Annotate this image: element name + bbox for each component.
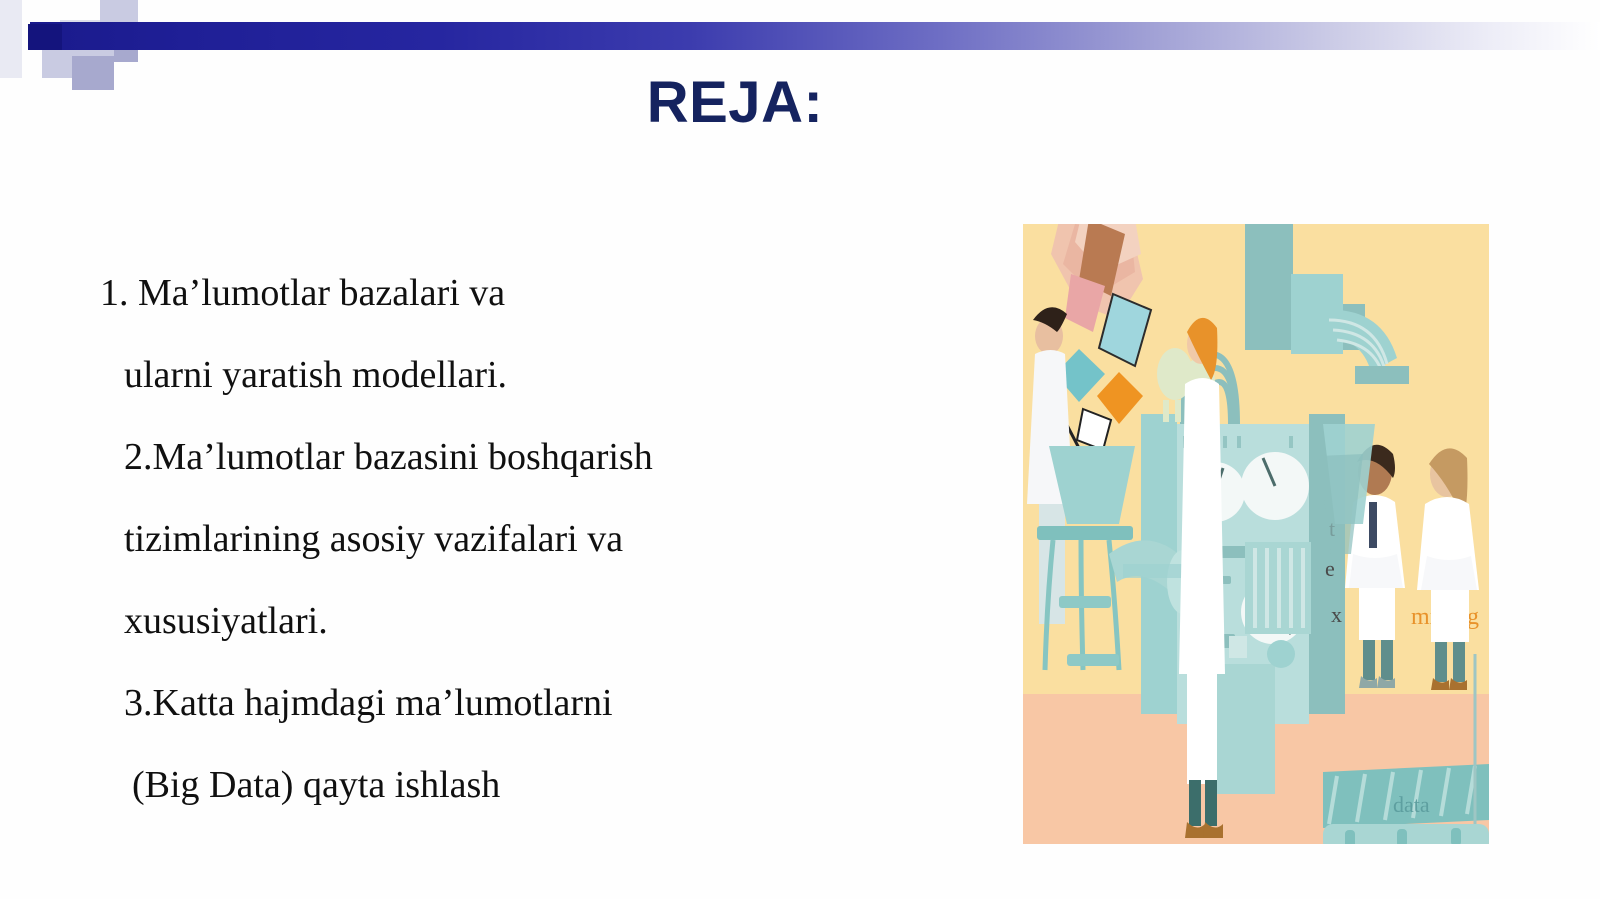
decor-strip-left [0, 0, 22, 78]
decor-block-mid-upper [100, 32, 138, 62]
body-line-7: (Big Data) qayta ishlash [132, 744, 920, 826]
slide-body-text: 1. Ma’lumotlar bazalari va ularni yarati… [100, 252, 920, 826]
header-gradient-bar [30, 22, 1600, 50]
header-decoration [0, 0, 1600, 78]
presentation-slide: REJA: 1. Ma’lumotlar bazalari va ularni … [0, 0, 1600, 899]
decor-block-pale-upper [60, 20, 100, 40]
factory-data-mining-illustration: data t e x 8 mining [1023, 224, 1489, 844]
body-line-2: ularni yaratish modellari. [124, 334, 920, 416]
decor-block-light-tall [100, 0, 138, 52]
svg-text:x: x [1331, 602, 1342, 627]
body-line-1: 1. Ma’lumotlar bazalari va [100, 252, 920, 334]
svg-text:e: e [1325, 556, 1335, 581]
body-line-6: 3.Katta hajmdagi ma’lumotlarni [124, 662, 920, 744]
body-line-5: xususiyatlari. [124, 580, 920, 662]
body-line-4: tizimlarining asosiy vazifalari va [124, 498, 920, 580]
decor-block-navy [28, 24, 62, 50]
decor-block-light-mid [72, 36, 114, 70]
body-line-3: 2.Ma’lumotlar bazasini boshqarish [124, 416, 920, 498]
belt-label-data: data [1393, 792, 1430, 817]
conveyor-belt: data [1323, 764, 1489, 844]
slide-title: REJA: [0, 74, 1470, 132]
